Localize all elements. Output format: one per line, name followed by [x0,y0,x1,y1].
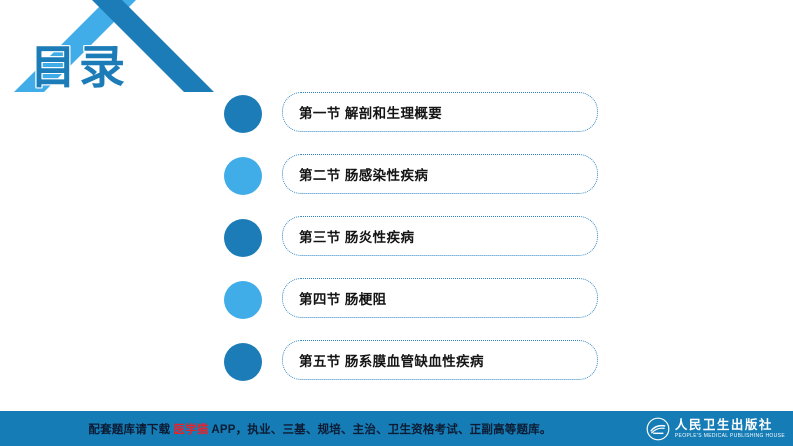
toc-item-label: 第一节 解剖和生理概要 [283,102,442,122]
toc-item-box[interactable]: 第四节 肠梗阻 [282,278,598,318]
pmph-emblem-icon [646,417,670,441]
page-title: 目录 [30,44,128,90]
bullet-icon [224,281,262,319]
toc-item-2[interactable]: 第二节 肠感染性疾病 [224,154,604,198]
footer-text-before: 配套题库请下载 [88,421,170,437]
toc-item-3[interactable]: 第三节 肠炎性疾病 [224,216,604,260]
publisher-names: 人民卫生出版社 PEOPLE'S MEDICAL PUBLISHING HOUS… [675,419,785,439]
publisher-name-en: PEOPLE'S MEDICAL PUBLISHING HOUSE [675,434,785,439]
bullet-icon [224,343,262,381]
toc-item-box[interactable]: 第三节 肠炎性疾病 [282,216,598,256]
footer-bar: 配套题库请下载 医学猫 APP，执业、三基、规培、主治、卫生资格考试、正副高等题… [0,411,793,446]
toc-item-1[interactable]: 第一节 解剖和生理概要 [224,92,604,136]
footer-text-after: APP，执业、三基、规培、主治、卫生资格考试、正副高等题库。 [211,421,551,437]
publisher-logo: 人民卫生出版社 PEOPLE'S MEDICAL PUBLISHING HOUS… [646,416,785,442]
toc-list: 第一节 解剖和生理概要 第二节 肠感染性疾病 第三节 肠炎性疾病 第四节 肠梗阻 [224,92,604,384]
toc-item-box[interactable]: 第五节 肠系膜血管缺血性疾病 [282,340,598,380]
publisher-name-cn: 人民卫生出版社 [675,419,773,432]
toc-item-label: 第四节 肠梗阻 [283,288,387,308]
toc-item-4[interactable]: 第四节 肠梗阻 [224,278,604,322]
bullet-icon [224,157,262,195]
footer-brand-highlight: 医学猫 [173,421,208,437]
bullet-icon [224,219,262,257]
footer-promo-text: 配套题库请下载 医学猫 APP，执业、三基、规培、主治、卫生资格考试、正副高等题… [0,411,640,446]
toc-item-label: 第二节 肠感染性疾病 [283,164,428,184]
bullet-icon [224,95,262,133]
toc-item-5[interactable]: 第五节 肠系膜血管缺血性疾病 [224,340,604,384]
slide-root: 目录 第一节 解剖和生理概要 第二节 肠感染性疾病 第三节 肠炎性疾病 第四节 [0,0,793,446]
title-block: 目录 [14,0,214,100]
toc-item-box[interactable]: 第一节 解剖和生理概要 [282,92,598,132]
toc-item-box[interactable]: 第二节 肠感染性疾病 [282,154,598,194]
toc-item-label: 第五节 肠系膜血管缺血性疾病 [283,350,484,370]
toc-item-label: 第三节 肠炎性疾病 [283,226,414,246]
